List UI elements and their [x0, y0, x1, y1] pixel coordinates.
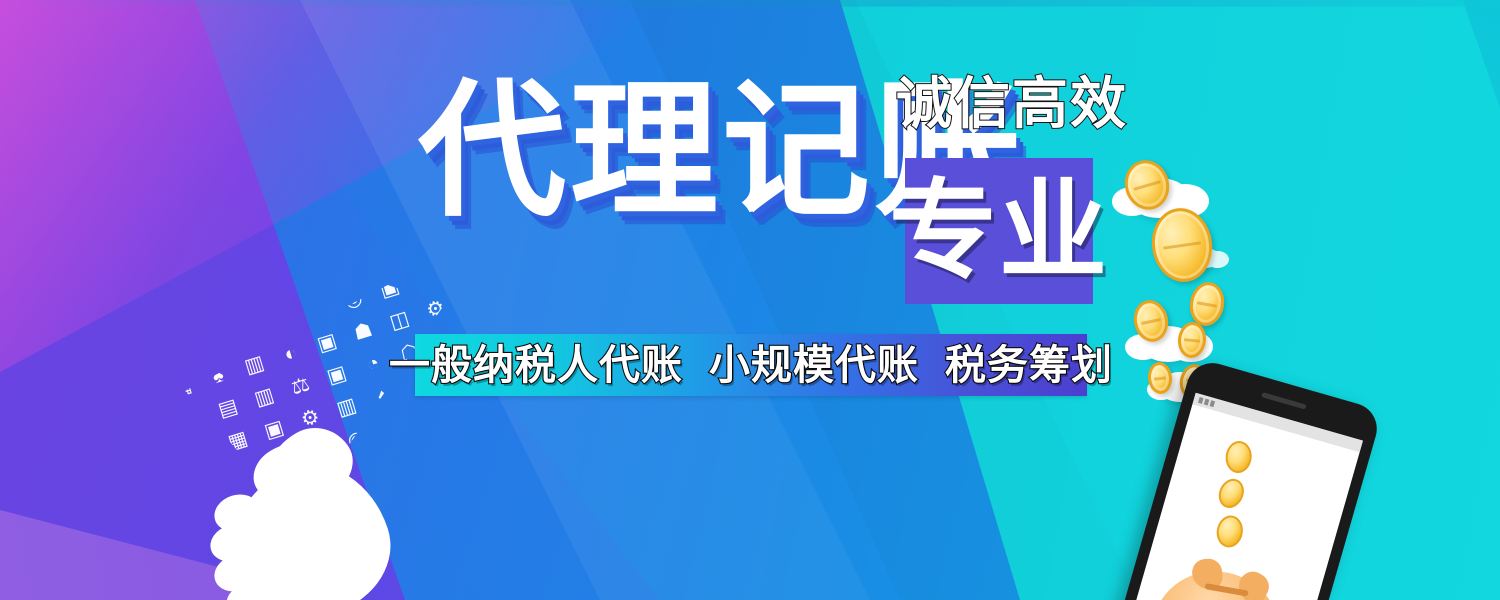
service-item-small-scale: 小规模代账 — [709, 345, 919, 386]
business-icon-13: ▤ — [185, 291, 221, 333]
phone-speaker — [1261, 392, 1307, 409]
business-icon-22: ◔ — [185, 335, 194, 377]
business-icon-24: ☖ — [222, 313, 266, 355]
status-bar-signal-icon — [1198, 397, 1203, 404]
service-item-general-taxpayer: 一般纳税人代账 — [389, 345, 683, 386]
business-icon-30: ◈ — [440, 285, 445, 288]
business-icon-16: ▩ — [285, 285, 329, 300]
business-icon-78: ⚙ — [417, 430, 445, 472]
promo-banner: $▦▥◔▤▣⌂⚙▩◫▦▥▤♦⚖▩◉▣◍☗▥◔▤☖▦⚙◎▣▩◈▤▦♠▥◐▣☗◫⚙▩… — [0, 0, 1500, 600]
screen-coin-3 — [1214, 513, 1245, 549]
business-icon-23: ▤ — [186, 324, 230, 366]
megaphone-icon: $▦▥◔▤▣⌂⚙▩◫▦▥▤♦⚖▩◉▣◍☗▥◔▤☖▦⚙◎▣▩◈▤▦♠▥◐▣☗◫⚙▩… — [185, 285, 465, 600]
business-icon-51: ◎ — [185, 443, 188, 485]
business-icon-3: ▥ — [185, 285, 211, 301]
business-icon-15: ⚖ — [249, 285, 293, 311]
status-bar-wifi-icon — [1204, 399, 1209, 406]
piggy-bank-icon — [1141, 556, 1295, 600]
business-icon-61: ▥ — [185, 475, 198, 515]
business-icon-17: ◉ — [321, 285, 365, 289]
screen-coin-2 — [1214, 475, 1248, 512]
business-icon-14: ♦ — [213, 285, 257, 322]
service-item-tax-planning: 税务筹划 — [945, 345, 1113, 386]
hand-icon — [200, 425, 415, 600]
status-bar-battery-icon — [1210, 400, 1215, 407]
professional-badge: 专业 — [905, 158, 1093, 304]
banner-kicker: 诚信高效 — [896, 76, 1128, 132]
service-list-bar: 一般纳税人代账 小规模代账 税务筹划 — [415, 334, 1087, 396]
business-icon-4: ◔ — [203, 285, 247, 290]
screen-coin-1 — [1224, 440, 1253, 475]
professional-badge-label: 专业 — [889, 177, 1109, 285]
